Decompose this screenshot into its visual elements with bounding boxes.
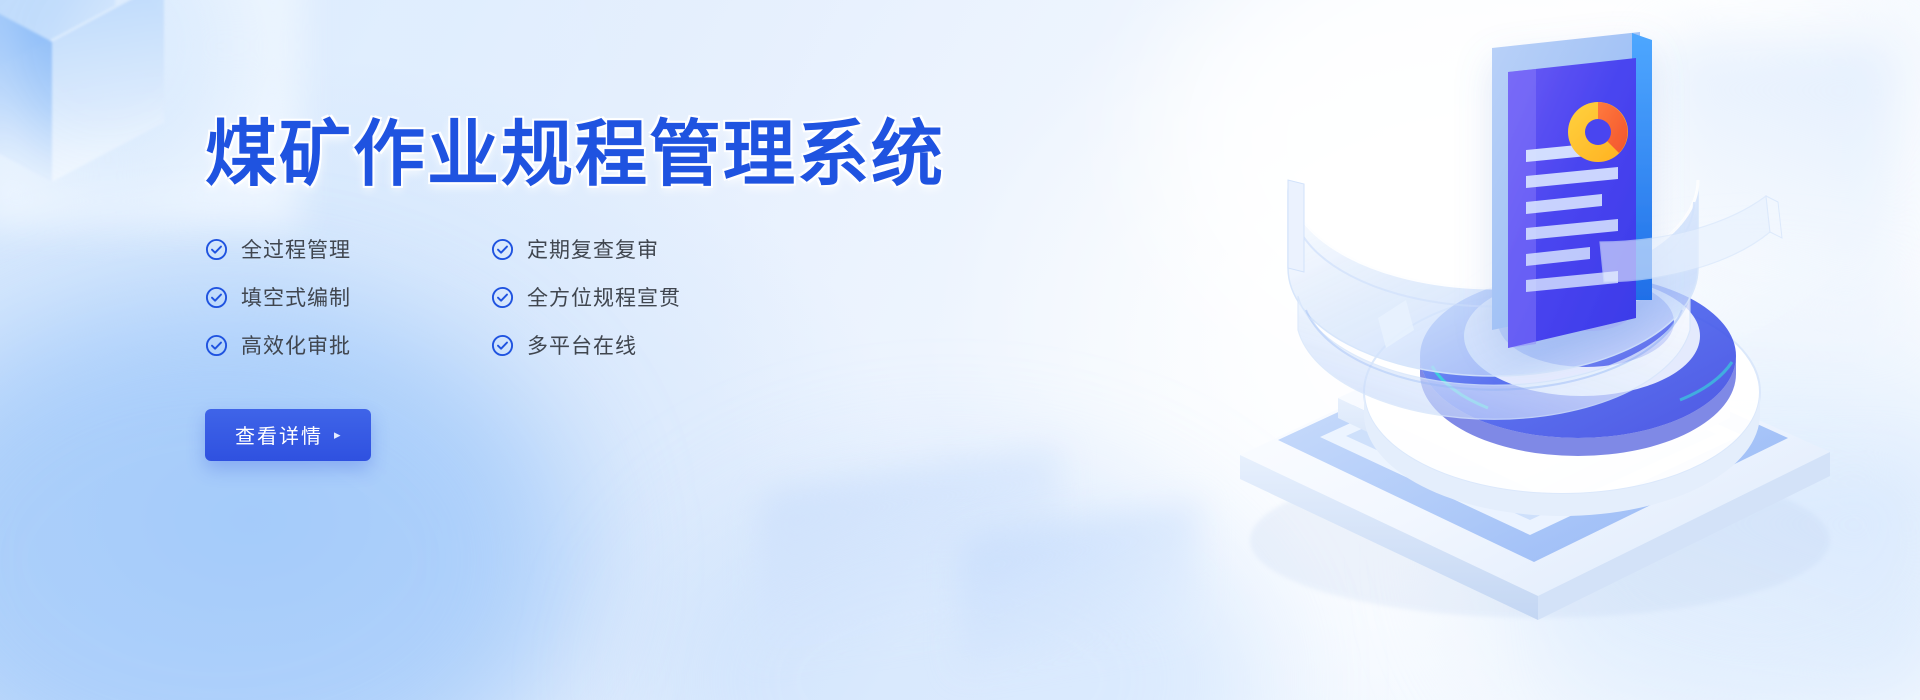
blue-cube-icon [0,0,190,161]
check-circle-icon [205,286,228,309]
background-blob-center [640,470,1260,700]
3d-document-platform-illustration [1170,0,1890,700]
view-details-button[interactable]: 查看详情 ▸ [205,409,371,461]
chevron-right-icon: ▸ [334,428,341,441]
feature-item: 定期复查复审 [491,236,777,263]
feature-label: 全过程管理 [241,234,351,264]
check-circle-icon [205,334,228,357]
check-circle-icon [491,334,514,357]
page-title: 煤矿作业规程管理系统 [205,118,1025,194]
document-card [1492,32,1652,348]
check-circle-icon [491,238,514,261]
check-circle-icon [491,286,514,309]
background-slab-2 [960,501,1200,669]
view-details-label: 查看详情 [235,420,323,449]
check-circle-icon [205,238,228,261]
feature-item: 填空式编制 [205,284,491,311]
feature-label: 高效化审批 [241,330,351,360]
feature-label: 定期复查复审 [527,234,659,264]
illustration-svg [1170,0,1890,700]
feature-label: 填空式编制 [241,282,351,312]
hero-banner: 煤矿作业规程管理系统 全过程管理 定期复查复审 [0,0,1920,700]
feature-item: 高效化审批 [205,332,491,359]
feature-list: 全过程管理 定期复查复审 填空式编制 [205,236,1025,359]
feature-item: 全方位规程宣贯 [491,284,777,311]
feature-item: 全过程管理 [205,236,491,263]
feature-label: 多平台在线 [527,330,637,360]
background-slab-1 [760,446,1060,654]
donut-chart-icon [1568,102,1628,162]
feature-label: 全方位规程宣贯 [527,282,681,312]
banner-content: 煤矿作业规程管理系统 全过程管理 定期复查复审 [205,118,1025,461]
feature-item: 多平台在线 [491,332,777,359]
